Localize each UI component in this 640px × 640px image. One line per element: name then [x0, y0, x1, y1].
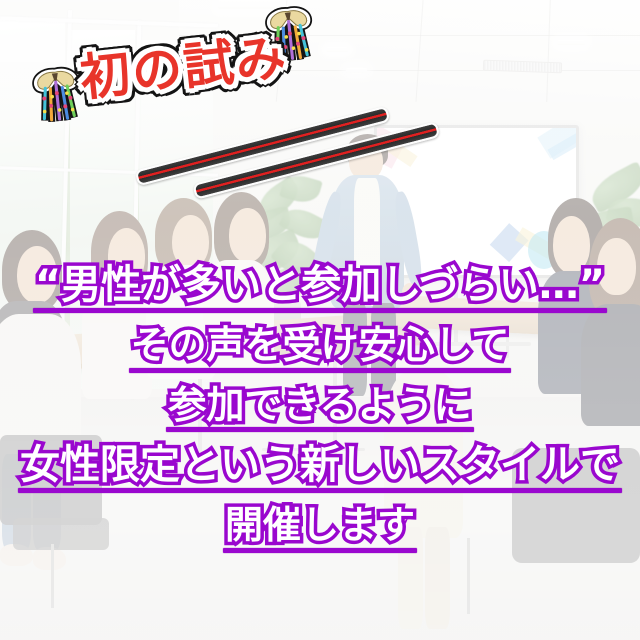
banner-canvas: 初の試み “男性が多いと参加しづらい…” その声を受け安心して 参加できるように… — [0, 0, 640, 640]
badge-title: 初の試み — [76, 17, 290, 110]
headline-underline — [18, 488, 622, 493]
headline-block: “男性が多いと参加しづらい…” その声を受け安心して 参加できるように 女性限定… — [0, 264, 640, 553]
kusudama-icon — [27, 61, 87, 128]
headline-underline — [33, 308, 607, 313]
headline-line: “男性が多いと参加しづらい…” — [33, 264, 607, 313]
headline-text: その声を受け安心して — [131, 325, 510, 365]
headline-text: “男性が多いと参加しづらい…” — [35, 264, 605, 306]
headline-line: その声を受け安心して — [129, 325, 512, 372]
headline-underline — [166, 427, 473, 432]
headline-underline — [223, 548, 417, 553]
headline-text: 参加できるように — [168, 385, 471, 425]
headline-text: 開催します — [225, 505, 415, 545]
headline-text: 女性限定という新しいスタイルで — [20, 444, 620, 486]
headline-underline — [129, 368, 512, 373]
headline-line: 参加できるように — [166, 385, 473, 432]
headline-line: 開催します — [223, 505, 417, 552]
headline-line: 女性限定という新しいスタイルで — [18, 444, 622, 493]
